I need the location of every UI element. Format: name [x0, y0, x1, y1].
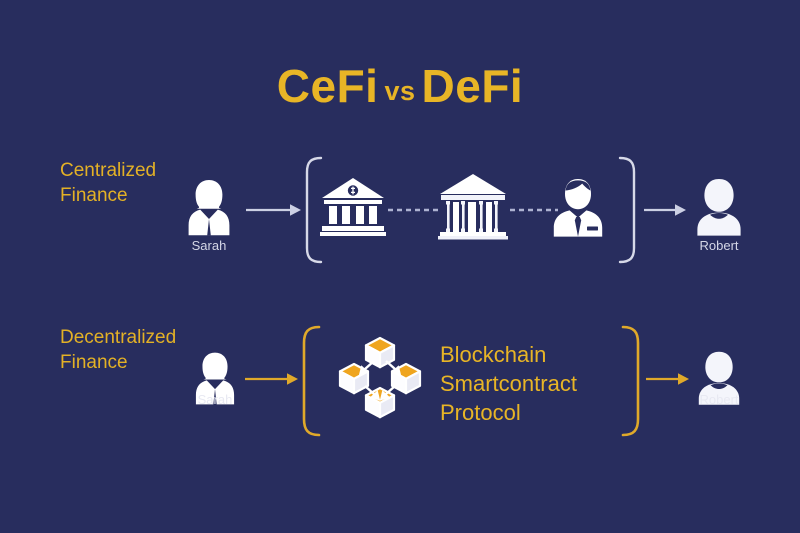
- person-caption-robert: Robert: [690, 392, 748, 407]
- arrow-institutions-to-robert: [644, 202, 688, 218]
- bank-coin-icon: [320, 176, 386, 238]
- row-label-line1: Decentralized: [60, 325, 176, 350]
- row-label-line2: Finance: [60, 350, 176, 375]
- row-label-line2: Finance: [60, 183, 156, 208]
- female-user-icon: [178, 176, 240, 236]
- bracket-left-defi: [300, 325, 324, 437]
- person-sarah-defi: Sarah: [186, 348, 244, 406]
- page-title: CeFivsDeFi: [0, 60, 800, 117]
- arrow-blockchain-to-robert: [646, 371, 692, 387]
- blockchain-text-line1: Blockchain: [440, 340, 577, 369]
- businessman-agent-icon: [545, 177, 611, 237]
- infographic-canvas: CeFivsDeFi Centralized Finance Sarah: [0, 0, 800, 533]
- title-defi: DeFi: [422, 60, 524, 112]
- title-vs: vs: [378, 76, 421, 106]
- blockchain-text-line2: Smartcontract: [440, 369, 577, 398]
- blockchain-text-line3: Protocol: [440, 398, 577, 427]
- person-caption-robert: Robert: [688, 238, 750, 253]
- title-cefi: CeFi: [277, 60, 379, 112]
- row-label-decentralized-finance: Decentralized Finance: [60, 325, 176, 375]
- dotted-connector-1: [388, 208, 438, 212]
- cube-bottom: [366, 388, 394, 417]
- blockchain-cubes-icon: [338, 334, 422, 418]
- arrow-sarah-to-blockchain: [245, 371, 301, 387]
- person-caption-sarah: Sarah: [178, 238, 240, 253]
- person-sarah-cefi: Sarah: [178, 176, 240, 236]
- person-robert-defi: Robert: [690, 348, 748, 406]
- row-label-centralized-finance: Centralized Finance: [60, 158, 156, 208]
- blockchain-protocol-text: Blockchain Smartcontract Protocol: [440, 340, 577, 427]
- classical-institution-icon: [438, 172, 508, 240]
- person-robert-cefi: Robert: [688, 176, 750, 236]
- male-user-icon: [688, 176, 750, 236]
- person-caption-sarah: Sarah: [186, 392, 244, 407]
- bracket-right-defi: [618, 325, 642, 437]
- row-label-line1: Centralized: [60, 158, 156, 183]
- arrow-sarah-to-institutions: [246, 202, 304, 218]
- bracket-right-cefi: [616, 156, 638, 264]
